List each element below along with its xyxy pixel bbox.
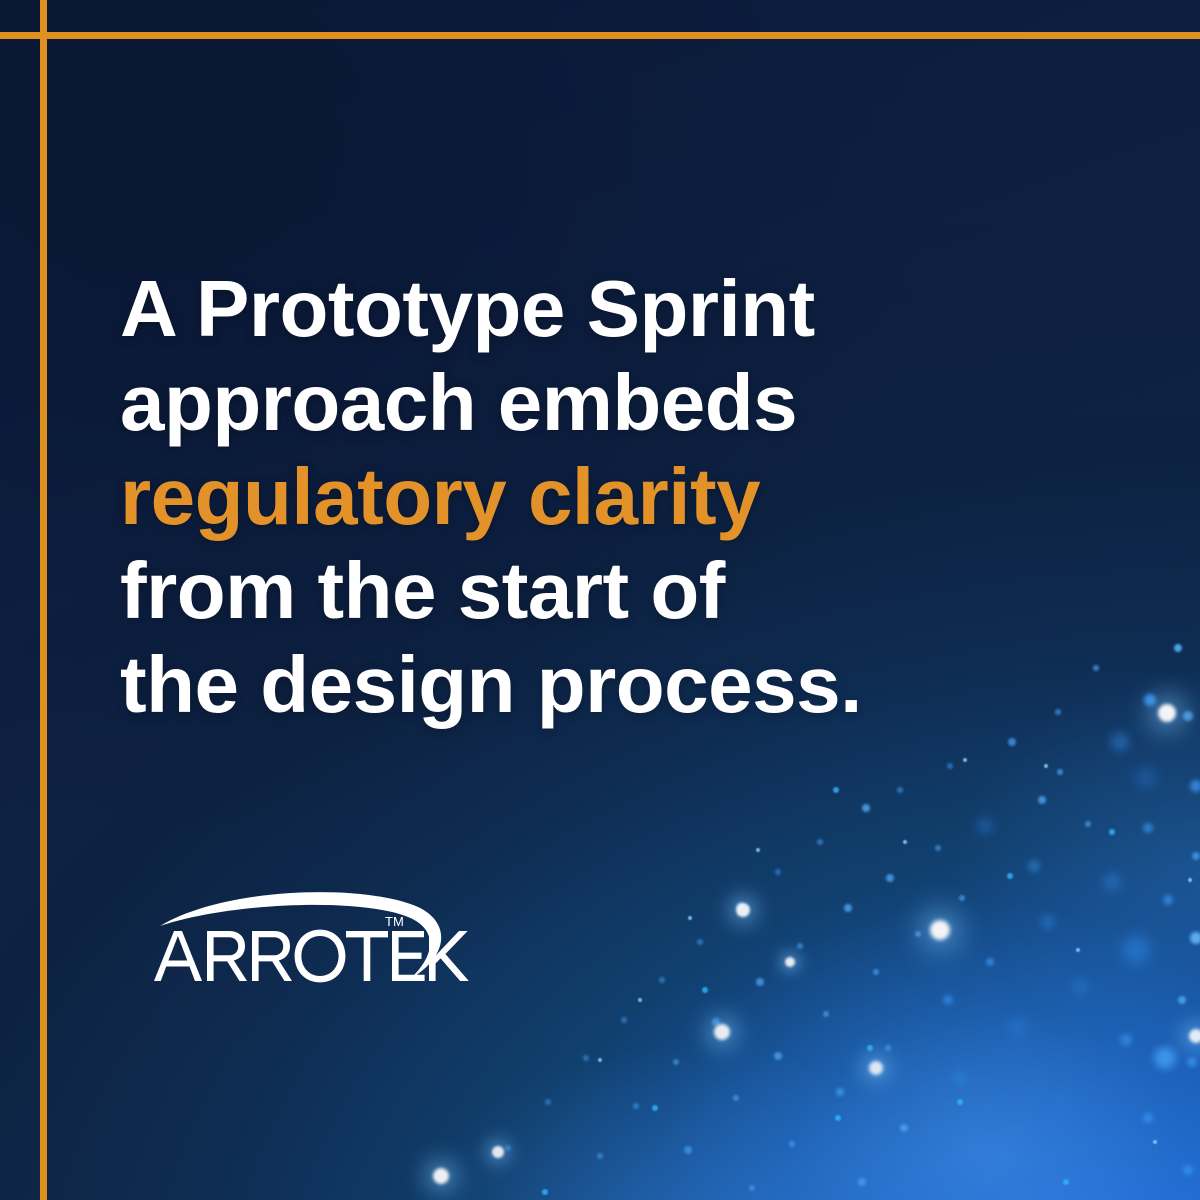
particle-dot (1174, 644, 1182, 652)
logo-wordmark (154, 930, 469, 983)
particle-dot (1136, 768, 1156, 788)
particle-dot (1055, 709, 1061, 715)
particle-dot (749, 1185, 755, 1191)
particle-dot (1007, 873, 1013, 879)
particle-dot (957, 1099, 963, 1105)
particle-dot (986, 958, 994, 966)
particle-dot (862, 804, 870, 812)
particle-dot (433, 1168, 449, 1184)
particle-dot (756, 978, 764, 986)
particle-dot (833, 787, 839, 793)
particle-dot (684, 1146, 692, 1154)
particle-dot (714, 1024, 730, 1040)
particle-dot (597, 1153, 603, 1159)
particle-dot (1008, 738, 1016, 746)
particle-dot (935, 845, 941, 851)
particle-dot (736, 903, 750, 917)
particle-dot (1120, 1034, 1132, 1046)
particle-dot (900, 1124, 908, 1132)
particle-dot (1063, 1179, 1069, 1185)
social-card: A Prototype Sprintapproach embedsregulat… (0, 0, 1200, 1200)
particle-dot (915, 931, 921, 937)
particle-dot (756, 848, 760, 852)
particle-dot (621, 1017, 627, 1023)
particle-dot (633, 1103, 639, 1109)
particle-dot (885, 1045, 891, 1051)
particle-dot (583, 1055, 589, 1061)
particle-dot (1103, 873, 1121, 891)
particle-dot (1143, 1113, 1153, 1123)
particle-dot (697, 939, 703, 945)
particle-dot (886, 874, 894, 882)
particle-dot (930, 920, 950, 940)
particle-dot (1111, 733, 1129, 751)
particle-dot (903, 840, 907, 844)
headline-line-2: approach embeds (120, 356, 910, 450)
particle-dot (733, 1095, 739, 1101)
top-orange-rule (0, 32, 1200, 39)
particle-dot (1093, 665, 1099, 671)
particle-dot (1143, 823, 1153, 833)
particle-dot (1028, 860, 1040, 872)
particle-dot (774, 1052, 782, 1060)
page-title: A Prototype Sprintapproach embedsregulat… (120, 262, 910, 732)
particle-dot (545, 1099, 551, 1105)
particle-dot (775, 869, 781, 875)
particle-dot (897, 787, 903, 793)
particle-dot (1153, 1140, 1157, 1144)
headline-line-4: from the start of (120, 544, 910, 638)
particle-dot (1187, 1057, 1197, 1067)
particle-dot (1178, 996, 1186, 1004)
particle-dot (1109, 829, 1115, 835)
particle-dot (1158, 704, 1176, 722)
particle-dot (797, 943, 803, 949)
particle-dot (1192, 852, 1200, 860)
particle-dot (492, 1146, 504, 1158)
particle-dot (817, 839, 823, 845)
particle-dot (873, 969, 879, 975)
particle-dot (1144, 694, 1156, 706)
particle-dot (652, 1105, 658, 1111)
particle-dot (702, 987, 708, 993)
particle-dot (844, 904, 852, 912)
particle-dot (542, 1189, 548, 1195)
particle-dot (1183, 1165, 1193, 1175)
particle-dot (823, 1011, 829, 1017)
particle-dot (998, 1148, 1014, 1164)
particle-dot (836, 1088, 844, 1096)
particle-dot (789, 1141, 795, 1147)
particle-dot (867, 1045, 873, 1051)
particle-dot (1044, 764, 1048, 768)
particle-dot (785, 957, 795, 967)
particle-dot (858, 1178, 866, 1186)
particle-dot (1085, 821, 1091, 827)
particle-dot (1189, 1029, 1200, 1043)
particle-dot (963, 758, 967, 762)
particle-dot (1122, 936, 1150, 964)
particle-dot (1057, 769, 1063, 775)
arrotek-logo: TM (152, 893, 448, 989)
particle-dot (835, 1115, 841, 1121)
particle-dot (638, 998, 642, 1002)
particle-dot (947, 763, 953, 769)
particle-dot (1038, 796, 1046, 804)
particle-dot (688, 916, 692, 920)
headline-line-5: the design process. (120, 638, 910, 732)
headline-line-1: A Prototype Sprint (120, 262, 910, 356)
particle-dot (959, 895, 965, 901)
particle-dot (1190, 780, 1200, 792)
particle-dot (1154, 1047, 1176, 1069)
logo-trademark: TM (385, 914, 404, 929)
particle-dot (1163, 895, 1173, 905)
particle-dot (1009, 1019, 1027, 1037)
particle-dot (943, 995, 953, 1005)
particle-dot (1072, 978, 1088, 994)
left-orange-rule (40, 0, 47, 1200)
particle-dot (673, 1059, 679, 1065)
particle-dot (1183, 711, 1193, 721)
particle-dot (1188, 878, 1192, 882)
particle-dot (1041, 915, 1055, 929)
particle-dot (1052, 1094, 1072, 1114)
particle-dot (1190, 932, 1200, 944)
particle-dot (659, 977, 665, 983)
headline-line-3: regulatory clarity (120, 450, 910, 544)
particle-dot (1076, 948, 1080, 952)
particle-dot (505, 1145, 511, 1151)
particle-dot (869, 1061, 883, 1075)
particle-dot (598, 1058, 602, 1062)
particle-dot (977, 818, 993, 834)
particle-dot (953, 1071, 967, 1085)
